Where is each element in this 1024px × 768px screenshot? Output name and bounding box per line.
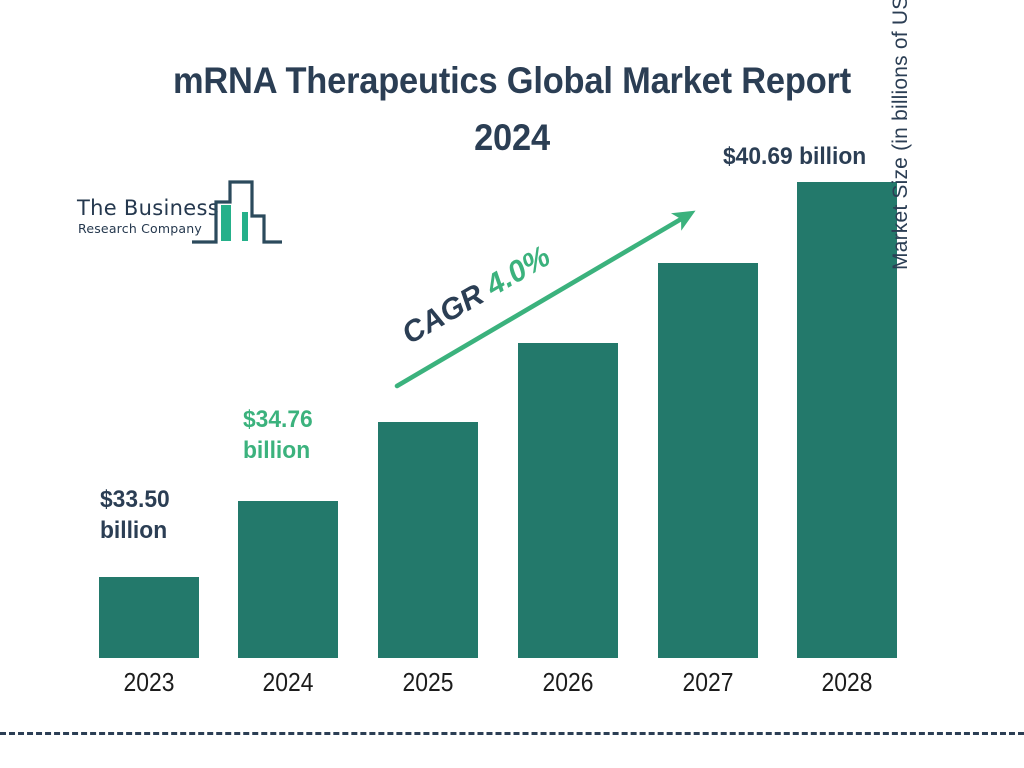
bar-2023 [99,577,199,658]
y-axis-label: Market Size (in billions of USD) [889,0,927,270]
company-logo: The Business Research Company [72,176,284,258]
bar-2028 [797,182,897,658]
footer-divider [0,732,1024,735]
value-label-2024: $34.76 billion [243,405,367,466]
xtick-2025: 2025 [384,667,472,698]
value-label-2023: $33.50 billion [100,485,224,546]
xtick-2028: 2028 [803,667,891,698]
xtick-2024: 2024 [244,667,332,698]
bar-2026 [518,343,618,658]
cagr-annotation-prefix: CAGR [397,278,490,351]
xtick-2027: 2027 [664,667,752,698]
xtick-2026: 2026 [524,667,612,698]
cagr-annotation: CAGR 4.0% [397,240,557,352]
xtick-2023: 2023 [105,667,193,698]
bar-2025 [378,422,478,658]
bar-2024 [238,501,338,658]
logo-text-secondary: Research Company [78,221,202,236]
logo-bar-chart-icon [190,176,284,254]
chart-canvas: mRNA Therapeutics Global Market Report 2… [0,0,1024,768]
cagr-annotation-value: 4.0% [480,240,556,303]
value-label-2028: $40.69 billion [723,142,970,173]
bar-2027 [658,263,758,658]
